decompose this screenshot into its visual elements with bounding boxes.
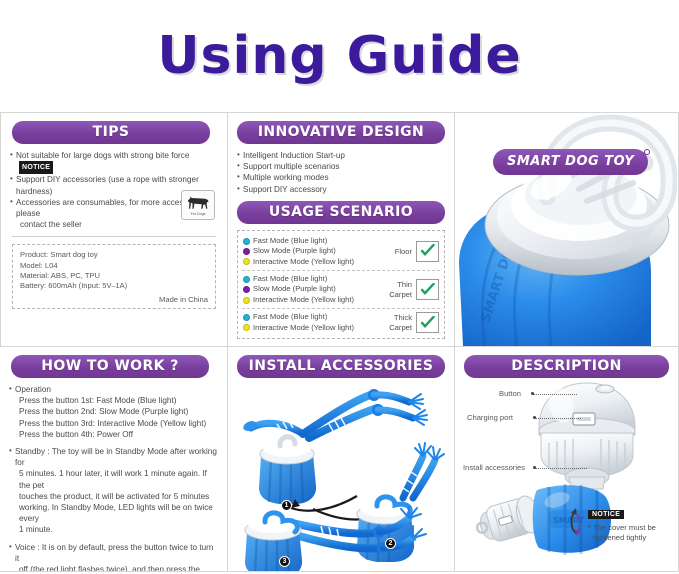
- dog-icon: [186, 195, 210, 211]
- mode-dot-purple-icon: [243, 286, 250, 293]
- for-dogs-badge: For Dogs: [181, 190, 215, 220]
- how-to-work-heading: HOW TO WORK ?: [11, 355, 209, 378]
- check-icon: [419, 282, 437, 298]
- spec-origin: Made in China: [20, 295, 208, 304]
- table-row: Fast Mode (Blue light) Interactive Mode …: [242, 308, 440, 336]
- leader-dot-install-accessories: [533, 466, 536, 469]
- innovative-design-heading: INNOVATIVE DESIGN: [237, 121, 445, 144]
- tips-bullet-0-text: Not suitable for large dogs with strong …: [16, 151, 189, 160]
- step-number-3: 3: [279, 556, 290, 567]
- check-icon: [419, 315, 437, 331]
- install-accessories-heading: INSTALL ACCESSORIES: [237, 355, 445, 378]
- list-item: working. In Standby Mode, LED lights wil…: [9, 502, 218, 524]
- leader-line-button: [533, 394, 577, 395]
- checkbox-floor: [416, 241, 439, 262]
- install-step-3-group: [245, 506, 426, 572]
- for-dogs-caption: For Dogs: [191, 212, 206, 216]
- list-item: Press the button 4th: Power Off: [9, 429, 218, 440]
- mode-dot-blue-icon: [243, 238, 250, 245]
- list-item: off (the red light flashes twice), and t…: [9, 564, 218, 572]
- using-guide-page: Using Guide TIPS Not suitable for large …: [0, 0, 679, 574]
- checkbox-thin-carpet: [416, 279, 439, 300]
- mode-dot-blue-icon: [243, 276, 250, 283]
- mode-line: Fast Mode (Blue light): [243, 236, 378, 246]
- spec-material: Material: ABS, PC, TPU: [20, 271, 208, 281]
- surface-label: Thick Carpet: [378, 313, 412, 332]
- notice-badge: NOTICE: [19, 161, 53, 174]
- list-item: 1 minute.: [9, 524, 218, 535]
- step-number-1: 1: [281, 500, 292, 511]
- leader-line-charging-port: [535, 418, 581, 419]
- spec-model: Model: L04: [20, 261, 208, 271]
- list-item: Press the button 3rd: Interactive Mode (…: [9, 418, 218, 429]
- mode-line: Interactive Mode (Yellow light): [243, 295, 378, 305]
- cover-notice-block: NOTICE The cover must be tightened tight…: [588, 503, 672, 543]
- surface-label: Thin Carpet: [378, 280, 412, 299]
- notice-badge: NOTICE: [588, 510, 624, 519]
- usage-scenario-heading: USAGE SCENARIO: [237, 201, 445, 224]
- mode-dot-yellow-icon: [243, 258, 250, 265]
- spec-product: Product: Smart dog toy: [20, 250, 208, 260]
- mode-line: Slow Mode (Purple light): [243, 284, 378, 294]
- mode-dot-yellow-icon: [243, 324, 250, 331]
- panel-description: DESCRIPTION: [455, 347, 679, 572]
- label-install-accessories: Install accessories: [463, 463, 525, 472]
- list-item: touches the product, it will be activate…: [9, 491, 218, 502]
- panel-product-hero: SMART DOG TOY: [455, 112, 679, 347]
- mode-label: Fast Mode (Blue light): [253, 236, 327, 246]
- check-icon: [419, 243, 437, 259]
- leader-dot-charging-port: [533, 416, 536, 419]
- list-item: contact the seller: [10, 219, 218, 230]
- leader-dot-button: [531, 392, 534, 395]
- mode-line: Slow Mode (Purple light): [243, 246, 378, 256]
- notice-text: The cover must be tightened tightly: [588, 523, 672, 543]
- list-item: Operation: [9, 384, 218, 395]
- checkbox-thick-carpet: [416, 312, 439, 333]
- mode-label: Slow Mode (Purple light): [253, 284, 336, 294]
- panel-how-to-work: HOW TO WORK ? Operation Press the button…: [0, 347, 228, 572]
- mode-line: Interactive Mode (Yellow light): [243, 323, 378, 333]
- mode-label: Interactive Mode (Yellow light): [253, 257, 354, 267]
- degree-mark-icon: [644, 149, 650, 155]
- page-title: Using Guide: [157, 26, 521, 86]
- how-to-work-body: Operation Press the button 1st: Fast Mod…: [9, 384, 218, 572]
- scenario-modes: Fast Mode (Blue light) Slow Mode (Purple…: [243, 236, 378, 267]
- mode-line: Fast Mode (Blue light): [243, 312, 378, 322]
- rotate-arrow-icon: [566, 505, 586, 539]
- scenario-modes: Fast Mode (Blue light) Interactive Mode …: [243, 312, 378, 333]
- surface-label: Floor: [378, 247, 412, 257]
- brand-badge: SMART DOG TOY: [493, 149, 648, 175]
- mode-label: Interactive Mode (Yellow light): [253, 323, 354, 333]
- label-button: Button: [499, 389, 521, 398]
- install-illustration: 1 2 3: [237, 384, 445, 566]
- spec-battery: Battery: 600mAh (Input: 5V⎯1A): [20, 281, 208, 291]
- list-item: Support multiple scenarios: [237, 161, 445, 172]
- panel-innovative-usage: INNOVATIVE DESIGN Intelligent Induction …: [228, 112, 455, 347]
- panel-install-accessories: INSTALL ACCESSORIES: [228, 347, 455, 572]
- mode-dot-yellow-icon: [243, 297, 250, 304]
- list-item: Intelligent Induction Start-up: [237, 150, 445, 161]
- list-item: Voice : It is on by default, press the b…: [9, 542, 218, 564]
- list-item: 5 minutes. 1 hour later, it will work 1 …: [9, 468, 218, 490]
- mode-line: Interactive Mode (Yellow light): [243, 257, 378, 267]
- list-item: Press the button 2nd: Slow Mode (Purple …: [9, 406, 218, 417]
- mode-line: Fast Mode (Blue light): [243, 274, 378, 284]
- list-item: Standby : The toy will be in Standby Mod…: [9, 446, 218, 468]
- list-item: Not suitable for large dogs with strong …: [10, 150, 218, 174]
- usage-scenario-table: Fast Mode (Blue light) Slow Mode (Purple…: [237, 230, 445, 339]
- product-spec-box: Product: Smart dog toy Model: L04 Materi…: [12, 244, 216, 309]
- panel-tips: TIPS Not suitable for large dogs with st…: [0, 112, 228, 347]
- page-title-bar: Using Guide: [0, 0, 679, 112]
- tips-heading: TIPS: [12, 121, 210, 144]
- label-charging-port: Charging port: [467, 413, 513, 422]
- install-step-1-group: [242, 389, 427, 504]
- install-diagram-step3: [237, 488, 446, 572]
- mode-label: Interactive Mode (Yellow light): [253, 295, 354, 305]
- product-photo-top: SMART DOG TOY: [455, 113, 677, 346]
- mode-dot-purple-icon: [243, 248, 250, 255]
- table-row: Fast Mode (Blue light) Slow Mode (Purple…: [242, 270, 440, 308]
- panel-grid: TIPS Not suitable for large dogs with st…: [0, 112, 679, 572]
- list-item: Multiple working modes: [237, 172, 445, 183]
- scenario-modes: Fast Mode (Blue light) Slow Mode (Purple…: [243, 274, 378, 305]
- notice-line-2: tightened tightly: [593, 533, 646, 542]
- step-number-2: 2: [385, 538, 396, 549]
- mode-label: Fast Mode (Blue light): [253, 274, 327, 284]
- mode-label: Fast Mode (Blue light): [253, 312, 327, 322]
- mode-label: Slow Mode (Purple light): [253, 246, 336, 256]
- leader-line-install-accessories: [535, 468, 587, 469]
- tips-divider: [12, 236, 216, 237]
- notice-line-1: The cover must be: [593, 523, 656, 532]
- list-item: Press the button 1st: Fast Mode (Blue li…: [9, 395, 218, 406]
- innovative-bullet-list: Intelligent Induction Start-up Support m…: [237, 150, 445, 195]
- mode-dot-blue-icon: [243, 314, 250, 321]
- list-item: Support DIY accessory: [237, 184, 445, 195]
- table-row: Fast Mode (Blue light) Slow Mode (Purple…: [242, 233, 440, 270]
